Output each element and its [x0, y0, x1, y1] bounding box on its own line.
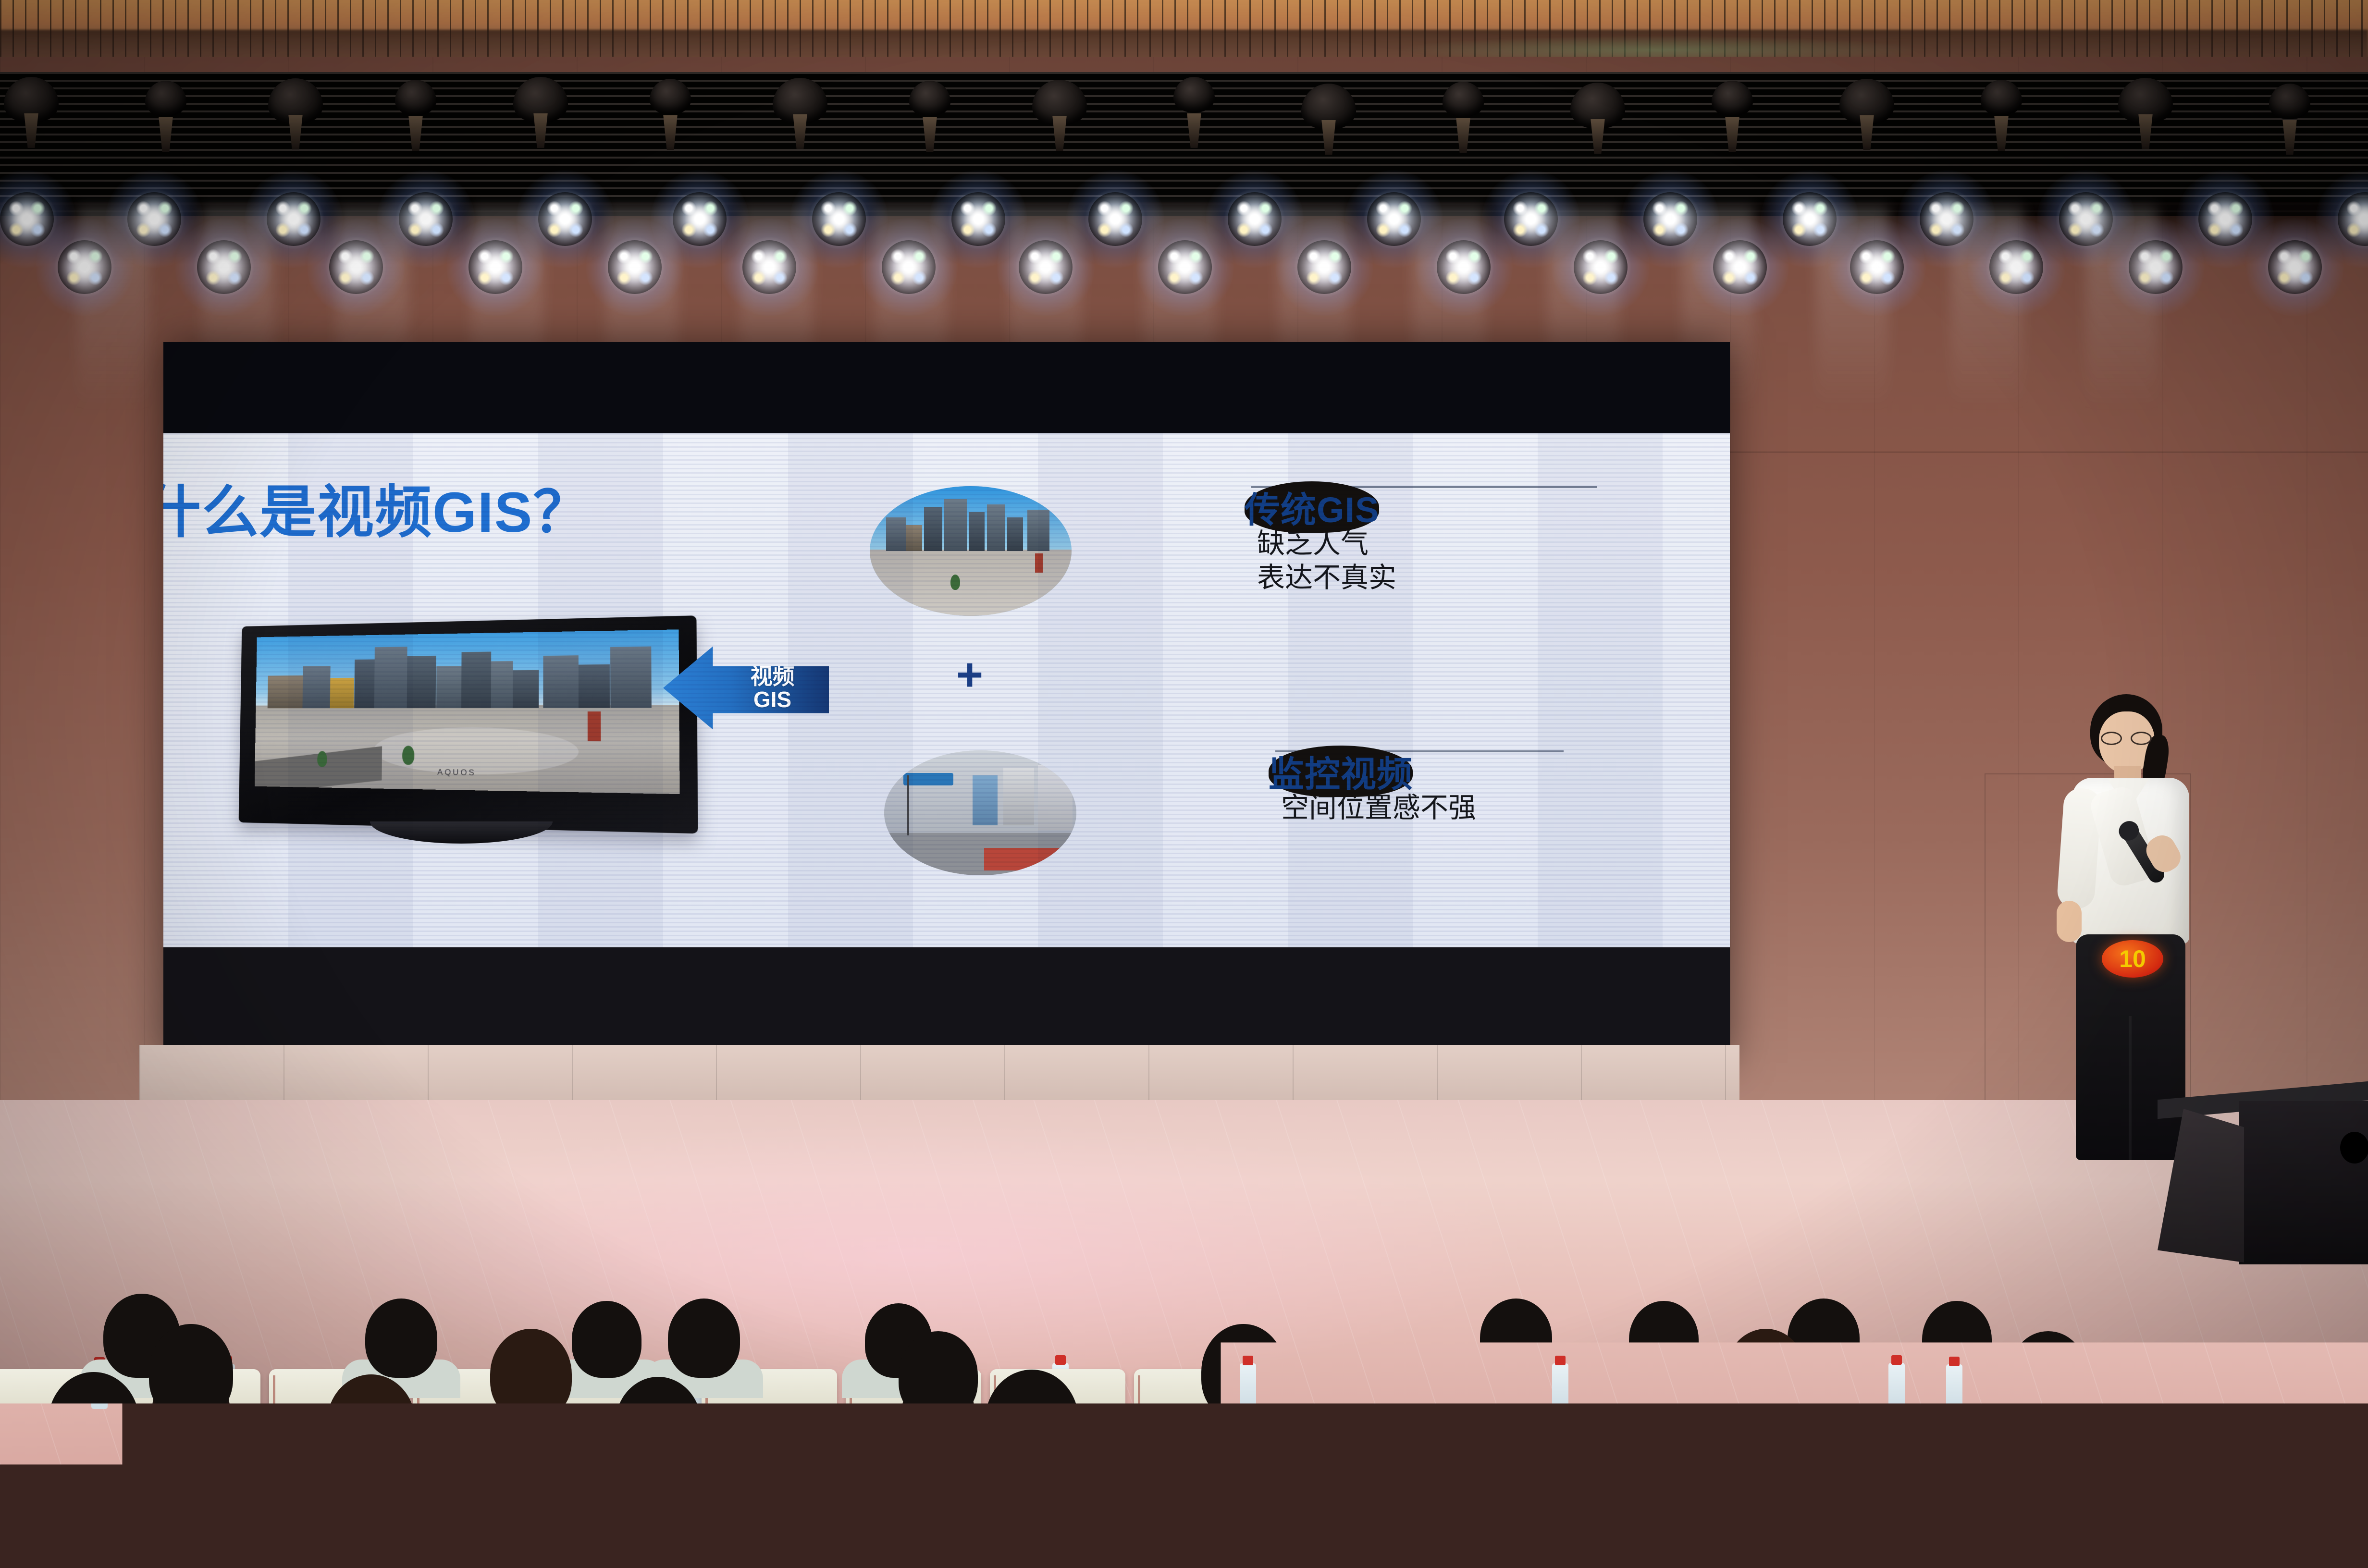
- par-light: [2198, 192, 2252, 246]
- tv-stand: [370, 821, 553, 844]
- light-beam: [2085, 207, 2158, 408]
- stage-base-seams: [139, 1045, 1739, 1102]
- audience-head: [1480, 1298, 1552, 1378]
- arrow-line-1: 视频: [751, 665, 795, 688]
- surveillance-video-block: 监控视频 局部 空间位置感不强: [1269, 746, 1564, 825]
- spotlight-fixture: [1970, 80, 2033, 152]
- monitor-handle-hole: [2340, 1132, 2368, 1164]
- spotlight-fixture: [0, 77, 62, 149]
- audience-head: [1672, 1372, 1764, 1473]
- par-light: [267, 192, 321, 246]
- spotlight-fixture: [1028, 80, 1091, 152]
- par-light: [1228, 192, 1282, 246]
- stage-base-wall: [139, 1045, 1739, 1102]
- traditional-gis-line-3: 表达不真实: [1257, 561, 1597, 595]
- contestant-number-badge: 10: [2102, 940, 2163, 978]
- screen-letterbox-top: [163, 342, 1730, 433]
- stage-monitor-speaker: [2158, 1090, 2368, 1273]
- spotlight-fixture: [1566, 83, 1629, 155]
- surveillance-video-heading: 监控视频: [1269, 746, 1413, 797]
- chair-seat: [187, 1518, 385, 1568]
- light-beam: [1816, 207, 1888, 408]
- spotlight-fixture: [509, 77, 572, 149]
- par-light: [673, 192, 727, 246]
- auditorium-scene: 什么是视频GIS？: [0, 0, 2368, 1568]
- spotlight-fixture: [769, 78, 831, 150]
- monitor-front-grille: [2158, 1109, 2244, 1262]
- spotlight-fixture: [1432, 82, 1494, 154]
- badge-number: 10: [2119, 947, 2146, 971]
- surveillance-video-image: [884, 750, 1076, 875]
- traditional-gis-heading: 传统GIS: [1245, 481, 1379, 533]
- wall-horizontal-seam: [1711, 452, 2368, 453]
- spotlight-fixture: [384, 80, 447, 152]
- slide-title: 什么是视频GIS？: [163, 466, 591, 548]
- traditional-gis-block: 传统GIS 静态、 缺乏人气 表达不真实: [1245, 481, 1597, 595]
- audience-head: [985, 1370, 1079, 1473]
- audience-head: [1807, 1420, 1905, 1531]
- tv-illustration: AQUOS: [226, 621, 687, 827]
- led-video-wall[interactable]: 什么是视频GIS？: [163, 342, 1730, 1063]
- audience-head: [1201, 1324, 1285, 1420]
- light-beam: [1951, 207, 2023, 408]
- light-beam: [77, 207, 149, 408]
- spotlight-fixture: [639, 79, 702, 151]
- glasses-icon: [2101, 732, 2152, 745]
- audience-head: [274, 1418, 375, 1531]
- par-light: [812, 192, 866, 246]
- audience-head: [1355, 1374, 1444, 1473]
- par-light: [2268, 240, 2322, 294]
- spotlight-fixture: [1297, 84, 1360, 156]
- presentation-slide: 什么是视频GIS？: [163, 433, 1730, 947]
- audience-head: [2153, 1415, 2256, 1531]
- audience-head: [149, 1324, 233, 1420]
- par-light: [951, 192, 1005, 246]
- spotlight-fixture: [264, 78, 327, 150]
- spotlight-fixture: [2114, 78, 2177, 150]
- par-light: [538, 192, 592, 246]
- audience-head: [2047, 1377, 2134, 1473]
- spotlight-fixture: [1163, 77, 1225, 149]
- spotlight-fixture: [1701, 81, 1764, 153]
- audience-head: [365, 1298, 437, 1378]
- tv-screen: AQUOS: [255, 629, 680, 794]
- arrow-line-2: GIS: [753, 688, 791, 711]
- audience-head: [1451, 1415, 1554, 1531]
- audience-head: [1922, 1301, 1992, 1378]
- par-light: [1088, 192, 1142, 246]
- spotlight-fixture: [899, 81, 961, 153]
- presenter: 10: [2042, 694, 2201, 1155]
- audience-seating: [0, 1249, 2368, 1568]
- spotlight-fixture: [1836, 79, 1898, 151]
- audience-head: [1629, 1301, 1699, 1378]
- par-light: [2338, 192, 2368, 246]
- audience-head: [668, 1298, 740, 1378]
- audience-head: [572, 1301, 641, 1378]
- traditional-gis-image: [870, 486, 1072, 616]
- chair-seat: [2254, 1518, 2368, 1568]
- presenter-left-hand: [2057, 901, 2082, 942]
- audience-head: [899, 1331, 978, 1420]
- monitor-side: [2239, 1101, 2368, 1264]
- spotlight-fixture: [2258, 84, 2321, 156]
- audience-head: [553, 1420, 651, 1531]
- plus-symbol: +: [956, 652, 983, 698]
- audience-head: [490, 1329, 572, 1420]
- spotlight-fixture: [135, 81, 197, 153]
